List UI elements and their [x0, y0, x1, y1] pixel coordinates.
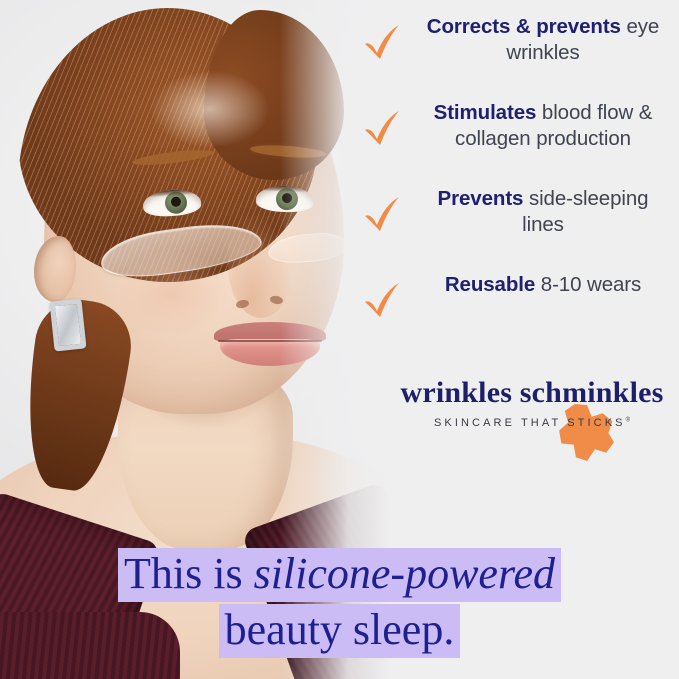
brand-logo: wrinkles schminkles SKINCARE THAT STICKS…	[396, 378, 668, 429]
orange-check-icon	[360, 106, 404, 150]
orange-check-icon	[360, 192, 404, 236]
tank-top-bodice	[0, 612, 180, 679]
orange-x-blob-icon	[558, 404, 614, 462]
registered-trademark-icon: ®	[626, 417, 630, 423]
benefit-item: Corrects & prevents eye wrinkles	[352, 14, 672, 100]
benefit-bold: Corrects & prevents	[427, 15, 621, 38]
benefit-text: Corrects & prevents eye wrinkles	[414, 14, 672, 66]
brand-tagline: SKINCARE THAT STICKS®	[396, 417, 668, 429]
benefit-item: Reusable 8-10 wears	[352, 272, 672, 332]
orange-check-icon	[360, 20, 404, 64]
benefit-text: Prevents side-sleeping lines	[414, 186, 672, 238]
benefit-item: Prevents side-sleeping lines	[352, 186, 672, 272]
product-marketing-image: Corrects & prevents eye wrinkles Stimula…	[0, 0, 679, 679]
model-photo	[0, 0, 390, 679]
benefit-bold: Reusable	[445, 273, 535, 296]
silver-hoop-earring	[49, 298, 86, 351]
benefit-text: Stimulates blood flow & collagen product…	[414, 100, 672, 152]
benefit-rest: side-sleeping lines	[522, 187, 648, 236]
benefit-text: Reusable 8-10 wears	[414, 272, 672, 298]
benefit-bold: Stimulates	[434, 101, 537, 124]
benefit-bold: Prevents	[438, 187, 524, 210]
orange-check-icon	[360, 278, 404, 322]
brand-tagline-text: SKINCARE THAT STICKS	[434, 417, 626, 429]
benefit-item: Stimulates blood flow & collagen product…	[352, 100, 672, 186]
brand-wordmark: wrinkles schminkles	[396, 378, 668, 408]
forehead-highlight	[150, 70, 270, 148]
benefits-list: Corrects & prevents eye wrinkles Stimula…	[352, 14, 672, 332]
benefit-rest: 8-10 wears	[535, 273, 641, 296]
